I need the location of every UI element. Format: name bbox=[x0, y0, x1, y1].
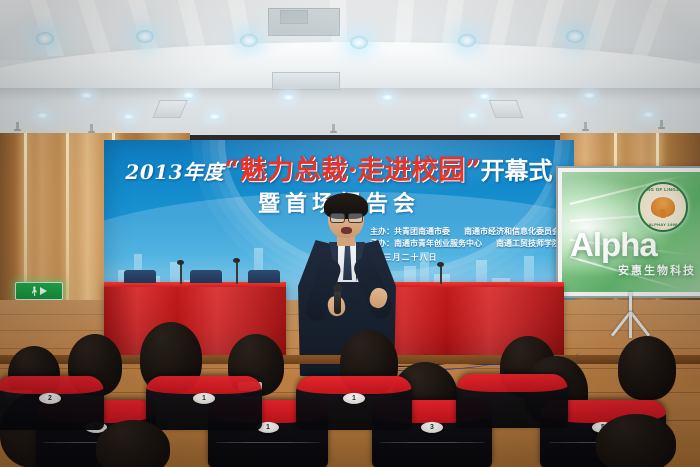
auditorium-photo: 2013年度“魅力总裁·走进校园”开幕式 暨首场报告会 主办：共青团南通市委南通… bbox=[0, 0, 700, 467]
seat-headrest bbox=[0, 376, 104, 394]
lingzhi-mushroom-icon bbox=[651, 197, 675, 217]
seat-headrest bbox=[296, 376, 412, 394]
speaker-mouth bbox=[341, 227, 352, 234]
ceiling-air-vent bbox=[152, 100, 187, 118]
ceiling bbox=[0, 0, 700, 135]
tripod-leg bbox=[629, 312, 632, 338]
credit-org-organizer-2: 南通工贸技师学院 bbox=[496, 238, 560, 250]
seat-number-badge: 2 bbox=[39, 393, 61, 404]
seat-number-badge: 3 bbox=[421, 422, 443, 433]
running-man-exit-icon bbox=[32, 286, 38, 296]
table-microphone-head bbox=[437, 262, 444, 267]
credit-org-organizer-1: 南通市青年创业服务中心 bbox=[394, 239, 482, 248]
audience-seat: 1 bbox=[146, 376, 262, 430]
projection-screen: KING OF LINGZHI ALPHAY 1998 Alpha 安惠生物科技 bbox=[556, 166, 700, 298]
handheld-microphone-icon bbox=[334, 290, 341, 314]
tripod-leg bbox=[629, 311, 650, 336]
recessed-downlight bbox=[583, 92, 596, 99]
company-seal-logo: KING OF LINGZHI ALPHAY 1998 bbox=[638, 182, 688, 232]
credit-org-host-1: 共青团南通市委 bbox=[394, 227, 450, 236]
recessed-downlight bbox=[36, 112, 49, 119]
banner-quote-close: ” bbox=[465, 155, 481, 186]
recessed-downlight bbox=[122, 113, 135, 120]
seat-number-badge: 1 bbox=[343, 393, 365, 404]
ceiling-air-vent bbox=[272, 72, 340, 90]
ceiling-spotlight bbox=[566, 30, 584, 43]
banner-title-year: 2013 bbox=[125, 160, 183, 184]
projected-slide: KING OF LINGZHI ALPHAY 1998 Alpha 安惠生物科技 bbox=[562, 172, 700, 292]
banner-title-year-suffix: 年度 bbox=[183, 160, 224, 184]
stage-chair-back bbox=[124, 270, 156, 283]
recessed-downlight bbox=[478, 93, 491, 100]
table-microphone-stand bbox=[440, 266, 442, 284]
recessed-downlight bbox=[556, 112, 569, 119]
sprinkler-head bbox=[16, 122, 19, 130]
banner-title-main: 魅力总裁·走进校园 bbox=[240, 155, 465, 186]
recessed-downlight bbox=[642, 111, 655, 118]
banner-title: 2013年度“魅力总裁·走进校园”开幕式 bbox=[104, 148, 574, 187]
seat-headrest bbox=[456, 374, 568, 392]
recessed-downlight bbox=[80, 92, 93, 99]
brand-name-chinese: 安惠生物科技 bbox=[618, 262, 696, 278]
seat-headrest bbox=[146, 376, 262, 394]
banner-title-tail: 开幕式 bbox=[481, 156, 553, 185]
credit-org-host-2: 南通市经济和信息化委员会 bbox=[464, 226, 560, 238]
ceiling-spotlight bbox=[36, 32, 54, 45]
sprinkler-head bbox=[660, 120, 663, 128]
seal-top-text: KING OF LINGZHI bbox=[640, 187, 686, 192]
table-microphone-stand bbox=[236, 262, 238, 284]
sprinkler-head bbox=[332, 124, 335, 132]
seat-seam bbox=[379, 442, 485, 443]
sprinkler-head bbox=[584, 122, 587, 130]
recessed-downlight bbox=[282, 94, 295, 101]
audience-head bbox=[96, 420, 170, 467]
recessed-downlight bbox=[381, 94, 394, 101]
ceiling-air-vent bbox=[489, 100, 524, 118]
stage-chair-back bbox=[190, 270, 222, 283]
ceiling-vent-grille bbox=[280, 10, 308, 24]
audience-seat: 1 bbox=[296, 376, 412, 430]
audience-seat: 2 bbox=[0, 376, 104, 430]
table-microphone-head bbox=[177, 260, 184, 265]
sprinkler-head bbox=[90, 124, 93, 132]
arrow-right-icon bbox=[40, 287, 47, 295]
audience-head bbox=[596, 414, 676, 467]
stage-chair-back bbox=[248, 270, 280, 283]
recessed-downlight bbox=[208, 113, 221, 120]
ceiling-spotlight bbox=[350, 36, 368, 49]
emergency-exit-sign bbox=[15, 282, 63, 300]
screen-tripod-stand bbox=[596, 292, 666, 338]
ceiling-spotlight bbox=[458, 34, 476, 47]
seat-seam bbox=[215, 442, 321, 443]
table-microphone-head bbox=[233, 258, 240, 263]
speaker-glasses bbox=[330, 213, 363, 221]
banner-quote-open: “ bbox=[224, 155, 240, 186]
ceiling-spotlight bbox=[240, 34, 258, 47]
recessed-downlight bbox=[182, 92, 195, 99]
audience-seat bbox=[456, 374, 568, 428]
brand-wordmark: Alpha bbox=[570, 226, 657, 264]
seat-number-badge: 1 bbox=[193, 393, 215, 404]
recessed-downlight bbox=[466, 112, 479, 119]
audience-head bbox=[618, 336, 676, 400]
ceiling-spotlight bbox=[136, 30, 154, 43]
table-microphone-stand bbox=[180, 264, 182, 284]
